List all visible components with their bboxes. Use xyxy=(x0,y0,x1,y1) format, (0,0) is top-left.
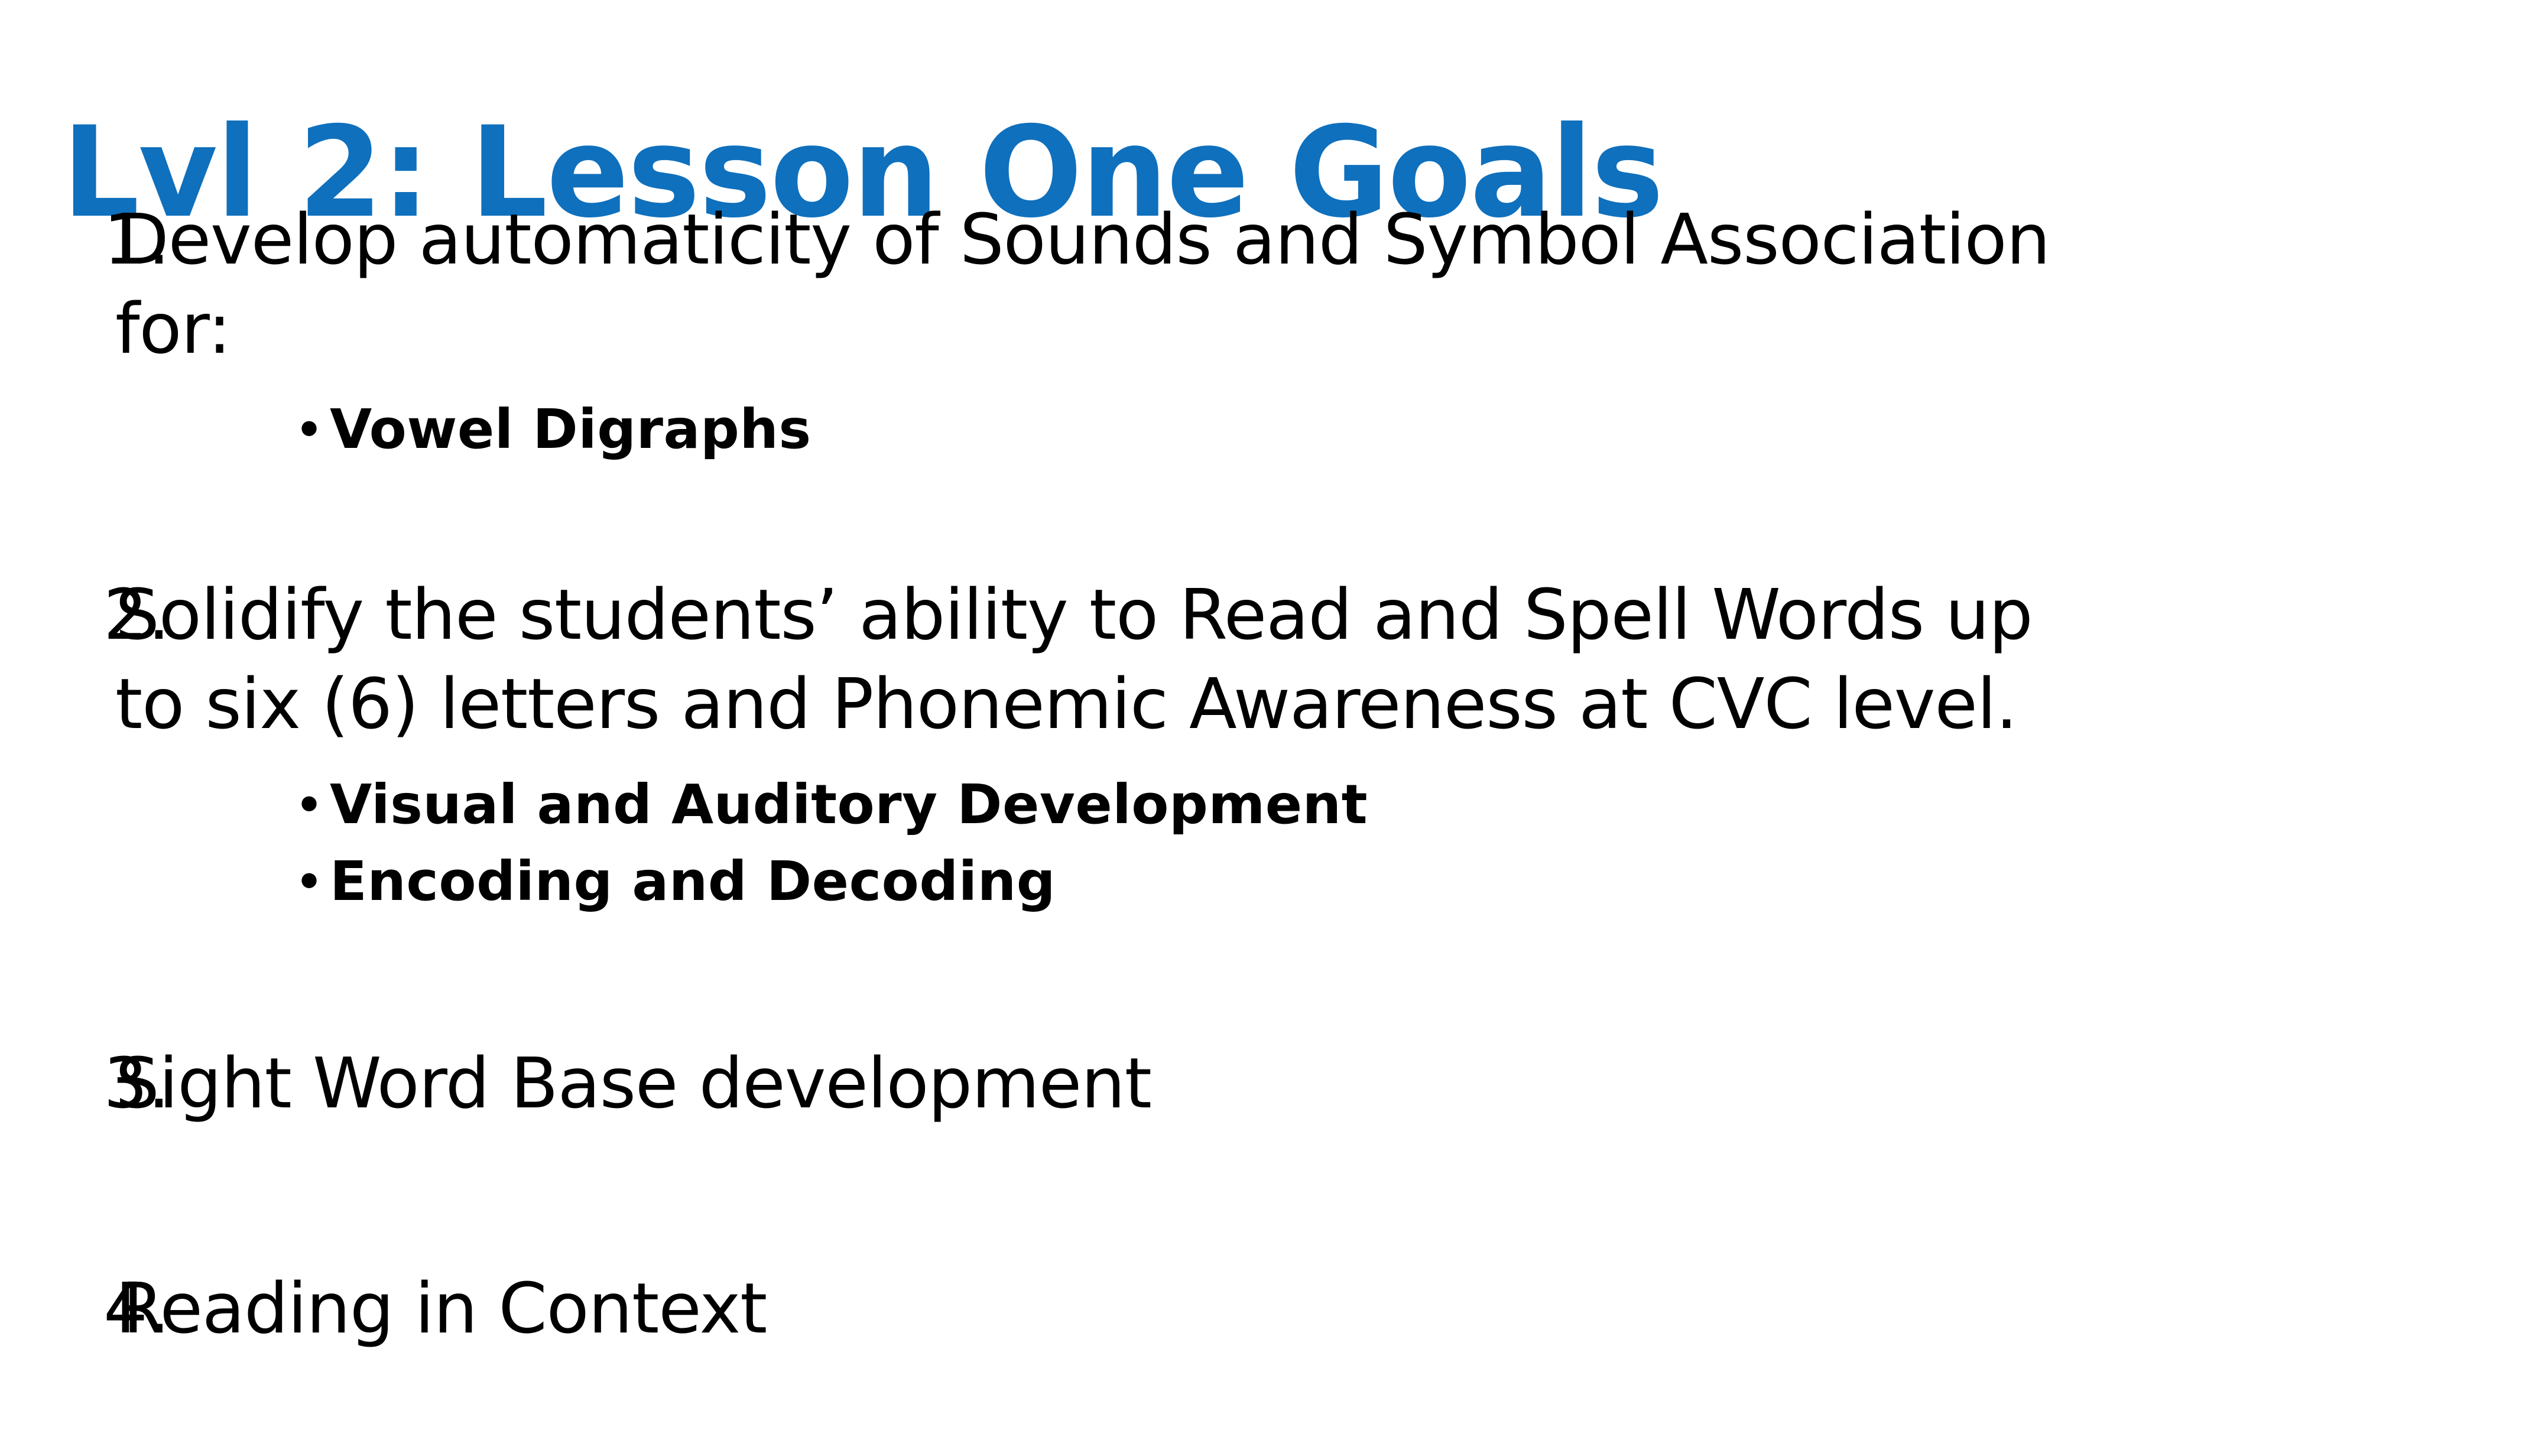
spacer xyxy=(0,749,2545,766)
goal-number-1: 1. xyxy=(0,195,115,284)
goal-text-1: Develop automaticity of Sounds and Symbo… xyxy=(115,195,2545,373)
spacer xyxy=(0,469,2545,570)
goal-text-3: Sight Word Base development xyxy=(115,1039,2545,1128)
bullet-icon: • xyxy=(296,784,330,826)
goal-item-2: 2. Solidify the students’ ability to Rea… xyxy=(0,570,2545,921)
goal-row-3: 3. Sight Word Base development xyxy=(0,1039,2545,1128)
sub-item-label: Encoding and Decoding xyxy=(330,843,1056,921)
sub-list-2: • Visual and Auditory Development • Enco… xyxy=(0,766,2545,921)
sub-item-label: Visual and Auditory Development xyxy=(330,766,1368,844)
goal-number-4: 4. xyxy=(0,1264,115,1353)
spacer xyxy=(0,373,2545,391)
bullet-icon: • xyxy=(296,408,330,451)
goals-list: 1. Develop automaticity of Sounds and Sy… xyxy=(0,195,2545,1353)
sub-item-visual-auditory-development: • Visual and Auditory Development xyxy=(0,766,2545,844)
goal-text-4: Reading in Context xyxy=(115,1264,2545,1353)
spacer xyxy=(0,1128,2545,1264)
sub-item-label: Vowel Digraphs xyxy=(330,391,811,469)
bullet-icon: • xyxy=(296,860,330,903)
spacer xyxy=(0,921,2545,1039)
slide-canvas: Lvl 2: Lesson One Goals 1. Develop autom… xyxy=(0,0,2545,1456)
goal-row-4: 4. Reading in Context xyxy=(0,1264,2545,1353)
goal-item-1: 1. Develop automaticity of Sounds and Sy… xyxy=(0,195,2545,469)
sub-item-encoding-decoding: • Encoding and Decoding xyxy=(0,843,2545,921)
sub-list-1: • Vowel Digraphs xyxy=(0,391,2545,469)
goal-text-2: Solidify the students’ ability to Read a… xyxy=(115,570,2545,749)
goal-item-4: 4. Reading in Context xyxy=(0,1264,2545,1353)
goal-row-1: 1. Develop automaticity of Sounds and Sy… xyxy=(0,195,2545,373)
goal-item-3: 3. Sight Word Base development xyxy=(0,1039,2545,1128)
goal-number-2: 2. xyxy=(0,570,115,659)
goal-row-2: 2. Solidify the students’ ability to Rea… xyxy=(0,570,2545,749)
sub-item-vowel-digraphs: • Vowel Digraphs xyxy=(0,391,2545,469)
goal-number-3: 3. xyxy=(0,1039,115,1128)
